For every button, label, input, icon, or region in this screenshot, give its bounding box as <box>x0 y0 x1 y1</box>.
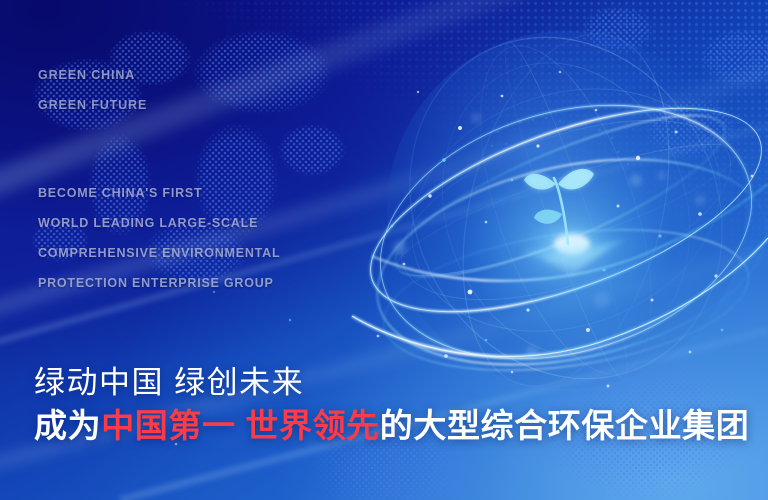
hero-banner: GREEN CHINA GREEN FUTURE BECOME CHINA'S … <box>0 0 768 500</box>
mission-line-2: WORLD LEADING LARGE-SCALE <box>38 216 280 230</box>
headline-line-1: 绿动中国 绿创未来 <box>34 363 749 403</box>
mission-line-1: BECOME CHINA'S FIRST <box>38 186 280 200</box>
eyebrow-line-1: GREEN CHINA <box>38 68 147 82</box>
eyebrow-tagline: GREEN CHINA GREEN FUTURE <box>38 68 147 112</box>
mission-statement: BECOME CHINA'S FIRST WORLD LEADING LARGE… <box>38 186 280 290</box>
mission-line-4: PROTECTION ENTERPRISE GROUP <box>38 276 280 290</box>
headline-accent: 中国第一 世界领先 <box>101 407 380 444</box>
headline-prefix: 成为 <box>34 407 101 444</box>
headline-suffix: 的大型综合环保企业集团 <box>380 407 750 444</box>
eyebrow-line-2: GREEN FUTURE <box>38 98 147 112</box>
banner-content: GREEN CHINA GREEN FUTURE BECOME CHINA'S … <box>0 0 768 500</box>
mission-line-3: COMPREHENSIVE ENVIRONMENTAL <box>38 246 280 260</box>
headline-line-2: 成为中国第一 世界领先的大型综合环保企业集团 <box>34 403 749 449</box>
headline-block: 绿动中国 绿创未来 成为中国第一 世界领先的大型综合环保企业集团 <box>34 363 749 449</box>
